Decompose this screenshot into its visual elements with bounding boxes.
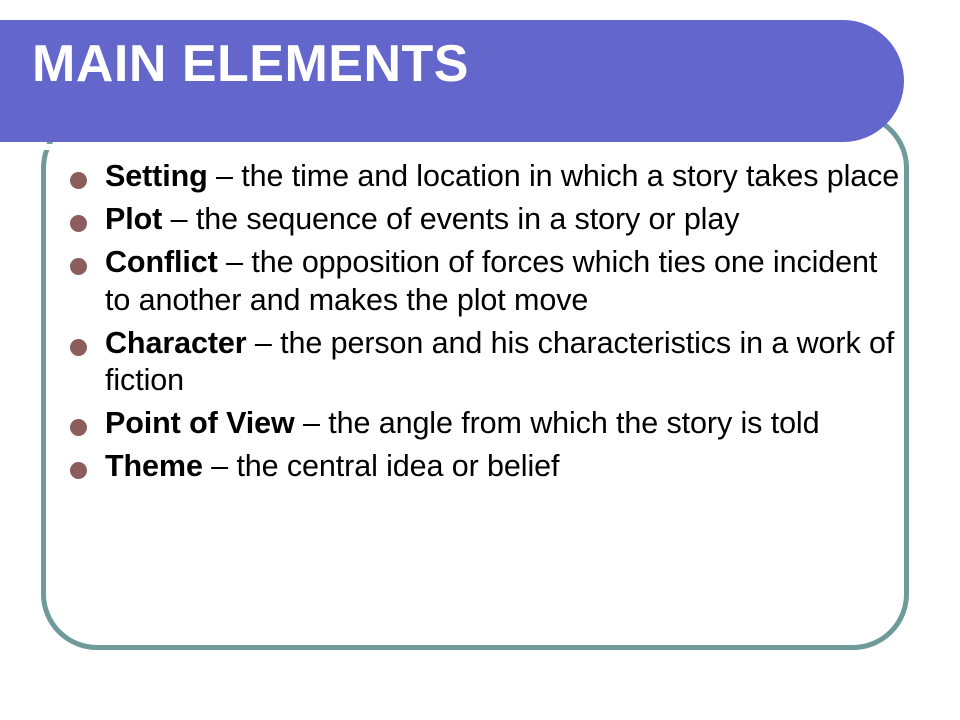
list-item: Point of View – the angle from which the…: [70, 405, 900, 442]
bullet-list: Setting – the time and location in which…: [70, 158, 900, 492]
slide-canvas: MAIN ELEMENTS Setting – the time and loc…: [0, 0, 960, 720]
list-item-definition: the time and location in which a story t…: [241, 159, 899, 193]
list-item-term: Setting: [105, 159, 208, 193]
list-item-term: Point of View: [105, 406, 295, 440]
slide-title: MAIN ELEMENTS: [32, 38, 469, 90]
list-item: Conflict – the opposition of forces whic…: [70, 244, 900, 318]
list-item-term: Conflict: [105, 245, 218, 279]
list-item-text: Setting – the time and location in which…: [105, 158, 900, 195]
list-item: Setting – the time and location in which…: [70, 158, 900, 195]
list-item-text: Point of View – the angle from which the…: [105, 405, 900, 442]
list-item-text: Character – the person and his character…: [105, 325, 900, 399]
list-item-dash: –: [203, 449, 237, 483]
list-item-dash: –: [162, 202, 196, 236]
bullet-dot-icon: [70, 215, 87, 232]
title-underline-rule: [0, 144, 808, 150]
list-item-dash: –: [247, 326, 281, 360]
list-item-definition: the sequence of events in a story or pla…: [196, 202, 740, 236]
list-item-term: Theme: [105, 449, 203, 483]
list-item-definition: the central idea or belief: [236, 449, 559, 483]
bullet-dot-icon: [70, 419, 87, 436]
list-item: Plot – the sequence of events in a story…: [70, 201, 900, 238]
list-item-dash: –: [295, 406, 329, 440]
bullet-dot-icon: [70, 339, 87, 356]
list-item: Theme – the central idea or belief: [70, 448, 900, 485]
list-item-definition: the angle from which the story is told: [328, 406, 819, 440]
list-item-dash: –: [218, 245, 252, 279]
bullet-dot-icon: [70, 462, 87, 479]
list-item: Character – the person and his character…: [70, 325, 900, 399]
list-item-dash: –: [208, 159, 242, 193]
list-item-text: Plot – the sequence of events in a story…: [105, 201, 900, 238]
list-item-text: Theme – the central idea or belief: [105, 448, 900, 485]
list-item-term: Plot: [105, 202, 162, 236]
bullet-dot-icon: [70, 172, 87, 189]
bullet-dot-icon: [70, 258, 87, 275]
list-item-term: Character: [105, 326, 247, 360]
list-item-text: Conflict – the opposition of forces whic…: [105, 244, 900, 318]
